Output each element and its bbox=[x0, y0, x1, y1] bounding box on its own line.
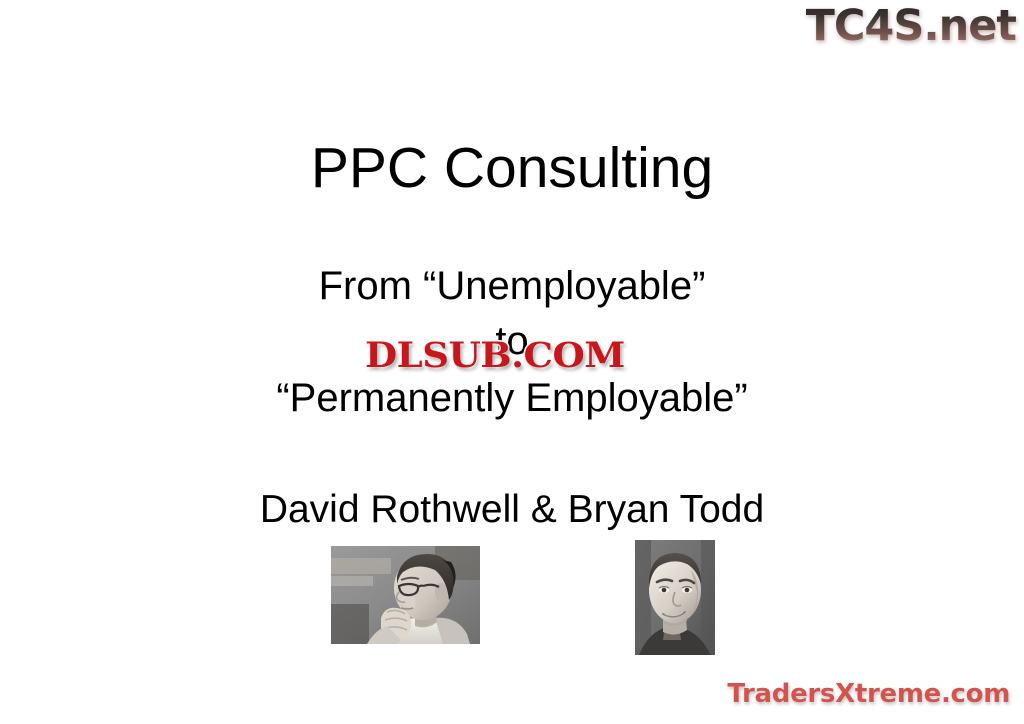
slide-subtitle-line-1: From “Unemployable” bbox=[0, 262, 1024, 310]
tc4s-net-watermark: TC4S.net bbox=[806, 2, 1016, 50]
slide-title: PPC Consulting bbox=[0, 136, 1024, 200]
photo-david-rothwell bbox=[331, 546, 480, 644]
photo-david-rothwell-image bbox=[331, 546, 480, 644]
photo-bryan-todd bbox=[635, 540, 715, 655]
presentation-slide: TC4S.net PPC Consulting From “Unemployab… bbox=[0, 0, 1024, 724]
photo-bryan-todd-image bbox=[635, 540, 715, 655]
dlsub-com-watermark-text: DLSUB.COM bbox=[365, 336, 625, 376]
slide-subtitle-line-3: “Permanently Employable” bbox=[0, 374, 1024, 422]
tradersxtreme-com-watermark: TradersXtreme.com bbox=[727, 678, 1010, 710]
dlsub-com-watermark: DLSUB.COM bbox=[365, 336, 625, 376]
slide-authors: David Rothwell & Bryan Todd bbox=[0, 487, 1024, 533]
